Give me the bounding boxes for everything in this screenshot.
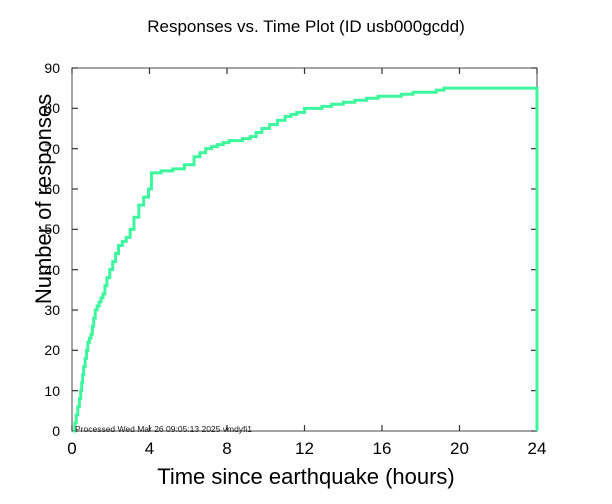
x-tick-20: 20 xyxy=(440,440,480,457)
y-tick-50: 50 xyxy=(20,222,60,236)
x-tick-0: 0 xyxy=(52,440,92,457)
x-tick-16: 16 xyxy=(362,440,402,457)
response-step-line xyxy=(73,88,537,431)
processing-stamp: Processed Wed Mar 26 09:05:13 2025 vmdyf… xyxy=(75,425,252,434)
y-tick-30: 30 xyxy=(20,303,60,317)
chart-title: Responses vs. Time Plot (ID usb000gcdd) xyxy=(0,17,612,37)
y-tick-10: 10 xyxy=(20,384,60,398)
y-tick-90: 90 xyxy=(20,61,60,75)
x-tick-4: 4 xyxy=(130,440,170,457)
x-tick-24: 24 xyxy=(517,440,557,457)
chart-figure: Responses vs. Time Plot (ID usb000gcdd) … xyxy=(0,0,612,504)
axes-ticks xyxy=(72,68,537,431)
y-tick-60: 60 xyxy=(20,182,60,196)
axes-frame xyxy=(72,68,537,431)
y-tick-70: 70 xyxy=(20,142,60,156)
x-axis-label: Time since earthquake (hours) xyxy=(0,464,612,490)
y-tick-80: 80 xyxy=(20,101,60,115)
y-tick-20: 20 xyxy=(20,343,60,357)
y-tick-40: 40 xyxy=(20,263,60,277)
x-tick-8: 8 xyxy=(207,440,247,457)
y-tick-0: 0 xyxy=(20,424,60,438)
x-tick-12: 12 xyxy=(285,440,325,457)
